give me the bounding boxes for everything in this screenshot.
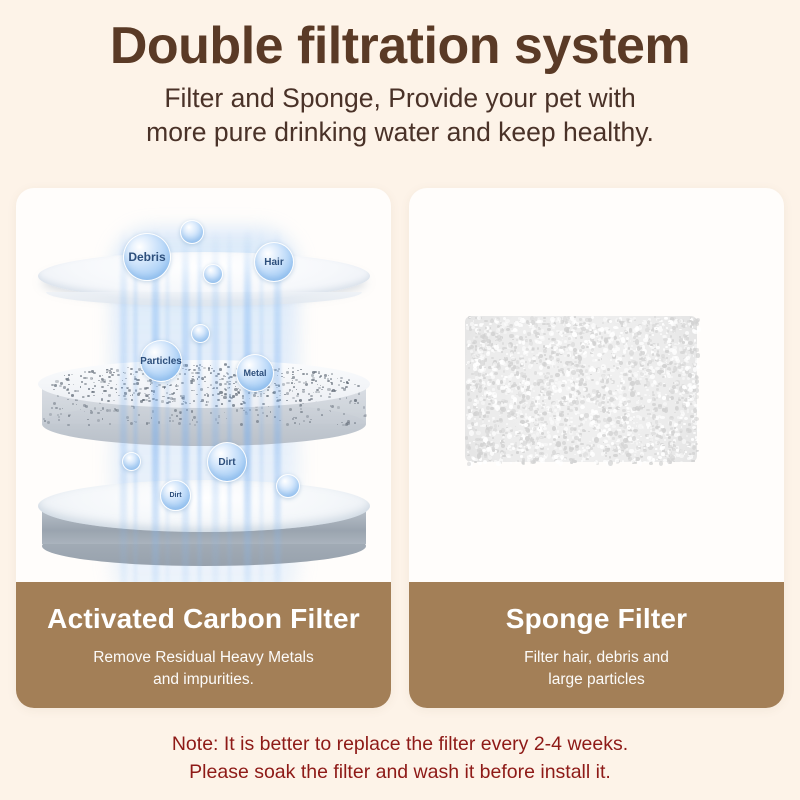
- carbon-granule: [51, 407, 53, 409]
- sponge-pore: [501, 456, 503, 459]
- carbon-granule: [87, 395, 90, 397]
- sponge-pore: [542, 404, 544, 406]
- sponge-pore: [659, 373, 661, 375]
- carbon-granule: [224, 363, 227, 365]
- sponge-pore: [485, 373, 487, 375]
- carbon-granule: [208, 367, 210, 368]
- sponge-pore: [622, 355, 625, 357]
- page-subtitle-line-2: more pure drinking water and keep health…: [0, 116, 800, 150]
- carbon-granule: [98, 380, 99, 381]
- sponge-pore: [605, 452, 607, 454]
- carbon-granule: [90, 411, 93, 414]
- sponge-pore: [512, 447, 514, 449]
- sponge-pore: [513, 345, 515, 346]
- carbon-granule: [126, 416, 129, 419]
- card-sponge-filter[interactable]: Sponge Filter Filter hair, debris and la…: [409, 188, 784, 708]
- sponge-pore: [655, 448, 657, 449]
- sponge-pore: [584, 413, 588, 418]
- carbon-granule: [135, 421, 137, 423]
- sponge-pore: [608, 407, 611, 409]
- carbon-granule: [179, 418, 181, 420]
- sponge-pore: [567, 379, 570, 381]
- carbon-granule: [210, 384, 213, 386]
- sponge-pore: [541, 390, 544, 393]
- sponge-pore: [500, 329, 504, 333]
- carbon-granule: [292, 371, 294, 373]
- carbon-granule: [88, 388, 90, 389]
- sponge-pore: [551, 393, 554, 395]
- sponge-pore: [618, 403, 622, 407]
- sponge-pore: [533, 330, 537, 334]
- sponge-pore: [611, 442, 614, 445]
- sponge-pore: [626, 448, 628, 450]
- sponge-pore: [544, 436, 546, 438]
- carbon-granule: [127, 420, 129, 422]
- sponge-pore: [493, 420, 496, 423]
- carbon-granule: [311, 379, 314, 382]
- sponge-pore: [506, 454, 510, 456]
- sponge-pore: [631, 427, 634, 430]
- sponge-pore: [468, 413, 472, 418]
- carbon-granule: [354, 422, 356, 424]
- sponge-pore: [602, 430, 605, 433]
- sponge-pore: [557, 430, 560, 433]
- sponge-pore: [607, 417, 612, 422]
- sponge-pore: [482, 385, 485, 388]
- carbon-granule: [266, 395, 269, 397]
- sponge-pore: [492, 449, 495, 452]
- carbon-granule: [335, 390, 337, 391]
- sponge-pore: [497, 365, 501, 370]
- sponge-pore: [511, 395, 515, 399]
- sponge-pore: [694, 344, 698, 348]
- sponge-pore: [658, 456, 662, 460]
- sponge-pore: [659, 448, 662, 450]
- sponge-pore: [518, 430, 521, 432]
- sponge-pore: [559, 406, 561, 409]
- sponge-pore: [652, 410, 655, 412]
- sponge-pore: [530, 430, 533, 433]
- water-bubble: [180, 220, 204, 244]
- sponge-pore: [473, 403, 477, 406]
- sponge-pore: [526, 395, 530, 400]
- sponge-pore: [561, 384, 564, 387]
- carbon-granule: [80, 386, 82, 387]
- sponge-pore: [689, 455, 694, 459]
- sponge-pore: [499, 430, 502, 433]
- carbon-granule: [253, 394, 256, 396]
- carbon-granule: [97, 419, 100, 422]
- sponge-pore: [676, 447, 678, 449]
- sponge-pore: [686, 366, 690, 369]
- carbon-granule: [337, 406, 340, 409]
- sponge-pore: [652, 349, 654, 351]
- carbon-granule: [136, 379, 139, 382]
- contaminant-bubble-hair: Hair: [254, 242, 294, 282]
- carbon-granule: [133, 392, 135, 394]
- carbon-granule: [139, 388, 142, 390]
- sponge-pore: [518, 447, 520, 449]
- carbon-granule: [317, 384, 318, 385]
- carbon-granule: [330, 411, 332, 413]
- carbon-granule: [343, 413, 345, 415]
- sponge-pore: [642, 371, 645, 373]
- carbon-granule: [207, 387, 208, 388]
- sponge-pore: [556, 353, 559, 355]
- carbon-granule: [169, 420, 172, 423]
- sponge-pore: [669, 398, 671, 400]
- carbon-granule: [354, 384, 356, 385]
- carbon-granule: [221, 395, 223, 397]
- sponge-pore: [687, 347, 689, 350]
- carbon-granule: [116, 384, 117, 385]
- card-activated-carbon-filter[interactable]: DebrisHairParticlesMetalDirtDirt Activat…: [16, 188, 391, 708]
- sponge-pore: [492, 381, 495, 385]
- carbon-granule: [74, 390, 77, 392]
- carbon-granule: [309, 421, 311, 423]
- carbon-granule: [330, 378, 332, 380]
- sponge-pore: [481, 408, 484, 412]
- carbon-granule: [206, 401, 208, 402]
- sponge-pore: [685, 353, 687, 354]
- carbon-granule: [204, 376, 206, 378]
- sponge-pore: [669, 461, 672, 464]
- sponge-pore: [563, 364, 566, 367]
- carbon-granule: [204, 381, 206, 382]
- sponge-pore: [565, 321, 568, 323]
- sponge-pore: [536, 405, 538, 408]
- carbon-granule: [49, 413, 52, 416]
- sponge-pore: [539, 423, 543, 427]
- carbon-granule: [116, 369, 119, 371]
- carbon-granule: [103, 381, 106, 383]
- sponge-pore: [489, 373, 493, 376]
- sponge-pore: [646, 443, 649, 447]
- sponge-pore: [490, 407, 493, 410]
- carbon-granule: [58, 416, 60, 418]
- sponge-pore: [498, 401, 500, 403]
- sponge-pore: [628, 457, 630, 460]
- carbon-granule: [288, 368, 289, 369]
- carbon-granule: [174, 409, 177, 412]
- sponge-pore: [682, 405, 686, 409]
- carbon-granule: [177, 378, 179, 379]
- carbon-granule: [197, 378, 199, 379]
- carbon-granule: [227, 366, 229, 368]
- sponge-pore: [533, 458, 535, 461]
- sponge-block: [465, 316, 697, 462]
- carbon-granule: [181, 403, 184, 405]
- sponge-pore: [612, 331, 615, 333]
- sponge-pore: [598, 406, 601, 408]
- sponge-pore: [629, 350, 634, 356]
- carbon-granule: [106, 372, 108, 373]
- sponge-pore: [484, 320, 488, 322]
- sponge-pore: [584, 340, 588, 343]
- carbon-granule: [102, 393, 103, 394]
- sponge-pore: [494, 444, 499, 447]
- sponge-pore: [480, 335, 483, 337]
- carbon-granule: [166, 392, 169, 394]
- sponge-pore: [642, 368, 644, 370]
- sponge-pore: [640, 452, 644, 456]
- carbon-granule: [193, 416, 195, 418]
- sponge-pore: [644, 394, 647, 396]
- carbon-granule: [237, 391, 240, 393]
- carbon-granule: [169, 385, 171, 386]
- carbon-granule: [217, 399, 220, 401]
- carbon-granule: [53, 389, 55, 391]
- sponge-pore: [555, 373, 559, 378]
- carbon-granule: [298, 381, 300, 383]
- sponge-pore: [598, 394, 601, 396]
- sponge-pore: [589, 329, 591, 331]
- sponge-pore: [599, 429, 601, 431]
- carbon-granule: [175, 385, 178, 387]
- carbon-granule: [339, 398, 340, 399]
- carbon-granule: [137, 393, 140, 396]
- sponge-pore: [578, 374, 580, 376]
- sponge-pore: [602, 406, 606, 411]
- sponge-pore: [634, 361, 638, 365]
- carbon-granule: [88, 424, 90, 426]
- sponge-pore: [695, 443, 699, 445]
- sponge-pore: [609, 338, 613, 343]
- sponge-pore: [687, 409, 689, 411]
- carbon-granule: [300, 411, 303, 414]
- carbon-granule: [77, 390, 80, 392]
- carbon-granule: [185, 402, 187, 403]
- carbon-granule: [102, 375, 103, 376]
- sponge-pore: [570, 347, 572, 349]
- carbon-granule: [181, 382, 184, 385]
- sponge-pore: [529, 360, 531, 362]
- sponge-pore: [583, 452, 587, 457]
- sponge-pore: [697, 327, 701, 332]
- carbon-granule: [71, 374, 73, 375]
- sponge-pore: [615, 347, 620, 352]
- sponge-pore: [687, 411, 689, 413]
- carbon-granule: [102, 407, 104, 409]
- sponge-pore: [542, 412, 546, 415]
- sponge-pore: [530, 403, 535, 407]
- carbon-granule: [317, 408, 320, 411]
- sponge-pore: [688, 423, 691, 426]
- carbon-granule: [262, 412, 264, 414]
- sponge-pore: [602, 322, 604, 324]
- carbon-granule: [158, 384, 160, 386]
- sponge-pore: [510, 324, 512, 326]
- carbon-granule: [167, 384, 168, 385]
- sponge-pore: [613, 446, 615, 448]
- carbon-granule: [162, 386, 165, 388]
- sponge-pore: [547, 431, 550, 434]
- carbon-granule: [196, 394, 198, 395]
- sponge-pore: [642, 426, 644, 428]
- page-subtitle: Filter and Sponge, Provide your pet with…: [0, 82, 800, 150]
- carbon-granule: [276, 400, 279, 402]
- carbon-granule: [188, 369, 191, 371]
- sponge-pore: [492, 388, 494, 391]
- carbon-granule: [172, 398, 175, 401]
- carbon-granule: [242, 397, 244, 399]
- sponge-pore: [670, 455, 674, 461]
- carbon-granule: [230, 397, 233, 399]
- carbon-granule: [279, 420, 280, 421]
- sponge-pore: [680, 461, 683, 464]
- sponge-pore: [673, 441, 675, 443]
- sponge-pore: [679, 453, 683, 458]
- sponge-pore: [631, 365, 635, 368]
- sponge-pore: [559, 423, 564, 426]
- sponge-pore: [592, 327, 594, 329]
- sponge-pore: [466, 380, 471, 384]
- sponge-pore: [479, 365, 482, 368]
- carbon-granule: [306, 373, 308, 375]
- carbon-granule: [166, 402, 169, 404]
- sponge-pore: [538, 418, 541, 421]
- sponge-pore: [601, 336, 603, 338]
- sponge-pore: [646, 381, 651, 386]
- sponge-pore: [657, 324, 659, 325]
- sponge-pore: [506, 328, 510, 331]
- carbon-granule: [158, 421, 161, 424]
- sponge-pore: [603, 351, 607, 354]
- sponge-pore: [526, 391, 530, 396]
- carbon-granule: [85, 405, 88, 408]
- sponge-pore: [558, 386, 562, 389]
- sponge-pore: [591, 409, 594, 413]
- bottom-dense-filter-disc: [38, 480, 370, 532]
- carbon-granule: [101, 386, 104, 388]
- sponge-pore: [697, 428, 700, 432]
- carbon-granule: [327, 388, 330, 391]
- sponge-pore: [607, 397, 610, 399]
- carbon-granule: [215, 405, 218, 408]
- carbon-granule: [346, 397, 347, 398]
- sponge-pore: [591, 379, 594, 381]
- sponge-pore: [507, 433, 512, 439]
- carbon-granule: [192, 376, 193, 377]
- carbon-granule: [130, 422, 133, 425]
- carbon-granule: [66, 389, 69, 392]
- sponge-pore: [647, 435, 649, 437]
- carbon-granule: [257, 414, 260, 417]
- sponge-pore: [604, 450, 606, 452]
- carbon-granule: [210, 412, 212, 414]
- sponge-pore: [617, 416, 621, 419]
- sponge-pore: [560, 361, 562, 363]
- carbon-granule: [329, 410, 330, 411]
- carbon-granule: [292, 397, 295, 400]
- carbon-granule: [150, 382, 152, 384]
- carbon-granule: [294, 422, 296, 424]
- carbon-granule: [315, 380, 317, 382]
- carbon-granule: [270, 411, 272, 413]
- sponge-pore: [609, 446, 611, 448]
- sponge-pore: [627, 407, 629, 409]
- sponge-pore: [539, 372, 543, 375]
- sponge-filter-description-line-1: Filter hair, debris and: [409, 647, 784, 669]
- carbon-granule: [88, 371, 91, 373]
- carbon-granule: [294, 383, 296, 384]
- sponge-pore: [551, 411, 553, 413]
- carbon-granule: [302, 390, 305, 393]
- sponge-pore: [500, 386, 504, 391]
- sponge-pore: [498, 338, 501, 342]
- sponge-pore: [635, 380, 640, 386]
- carbon-granule: [318, 391, 320, 393]
- carbon-granule: [289, 391, 290, 392]
- carbon-granule: [235, 381, 237, 383]
- sponge-pore: [615, 390, 617, 391]
- sponge-pore: [542, 400, 544, 402]
- sponge-pore: [484, 333, 486, 335]
- sponge-pore: [611, 381, 613, 383]
- sponge-pore: [467, 455, 469, 456]
- sponge-pore: [684, 417, 688, 420]
- sponge-pore: [505, 357, 508, 360]
- carbon-granule: [282, 383, 285, 385]
- sponge-pore: [616, 462, 619, 464]
- carbon-granule: [93, 382, 95, 383]
- replacement-note-line-2: Please soak the filter and wash it befor…: [0, 758, 800, 786]
- sponge-pore: [693, 348, 696, 351]
- carbon-granule: [235, 386, 236, 387]
- sponge-pore: [510, 352, 513, 356]
- sponge-pore: [695, 360, 698, 364]
- contaminant-bubble-metal: Metal: [236, 354, 274, 392]
- sponge-pore: [490, 441, 492, 442]
- sponge-pore: [530, 418, 534, 421]
- carbon-granule: [226, 418, 228, 420]
- sponge-pore: [489, 426, 492, 429]
- carbon-granule: [60, 413, 62, 415]
- carbon-granule: [68, 392, 70, 394]
- sponge-pore: [634, 430, 638, 433]
- carbon-granule: [331, 373, 333, 375]
- carbon-granule: [328, 375, 329, 376]
- carbon-granule: [68, 374, 70, 376]
- sponge-filter-description: Filter hair, debris and large particles: [409, 647, 784, 692]
- carbon-granule: [233, 383, 234, 384]
- carbon-granule: [189, 423, 191, 425]
- carbon-granule: [107, 385, 109, 386]
- carbon-granule: [197, 372, 200, 374]
- carbon-granule: [219, 379, 221, 380]
- sponge-pore: [469, 442, 471, 443]
- sponge-pore: [695, 379, 699, 384]
- sponge-pore: [472, 342, 475, 344]
- carbon-granule: [348, 379, 351, 381]
- sponge-pore: [549, 356, 554, 360]
- sponge-pore: [503, 383, 506, 385]
- carbon-granule: [192, 419, 194, 421]
- sponge-pore: [525, 407, 527, 410]
- carbon-granule: [218, 416, 220, 418]
- sponge-pore: [584, 430, 586, 432]
- carbon-granule: [343, 382, 344, 383]
- sponge-pore: [585, 373, 587, 375]
- carbon-granule: [191, 390, 192, 391]
- replacement-note-line-1: Note: It is better to replace the filter…: [0, 730, 800, 758]
- sponge-pore: [474, 418, 476, 420]
- sponge-pore: [521, 387, 525, 392]
- carbon-granule: [286, 392, 289, 394]
- sponge-pore: [530, 385, 534, 387]
- sponge-pore: [486, 391, 488, 394]
- sponge-pore: [524, 423, 528, 427]
